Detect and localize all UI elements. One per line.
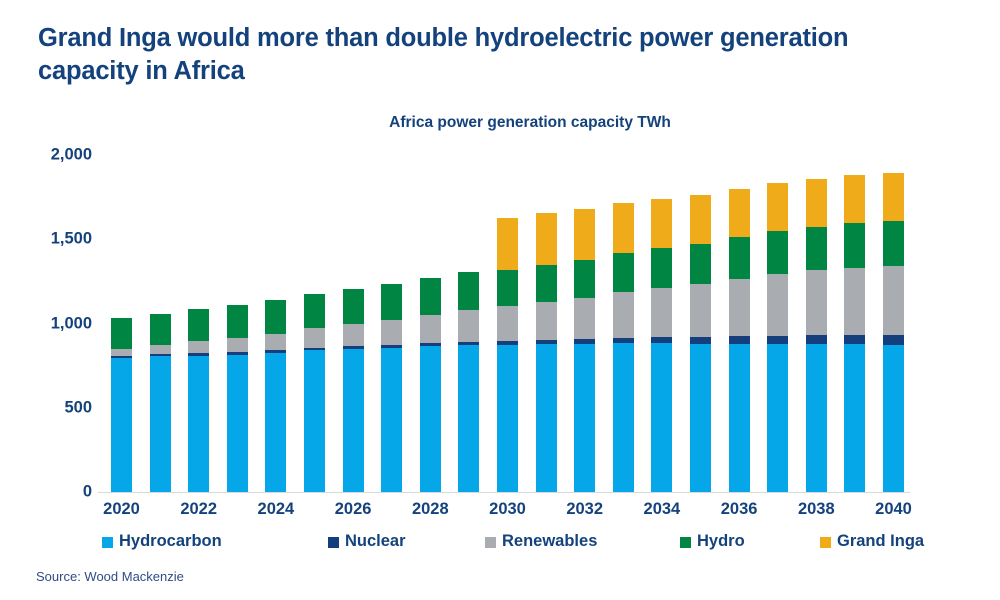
bar-segment-hydrocarbon[interactable] [304,350,325,492]
bar-segment-grand-inga[interactable] [690,195,711,244]
bar-segment-hydrocarbon[interactable] [729,344,750,492]
legend-item-hydro[interactable]: Hydro [680,533,745,550]
bar-segment-grand-inga[interactable] [651,199,672,249]
legend-item-nuclear[interactable]: Nuclear [328,533,406,550]
bar-segment-hydro[interactable] [343,289,364,324]
bar-segment-grand-inga[interactable] [574,209,595,260]
bar-2037[interactable] [767,183,788,492]
bar-segment-renewables[interactable] [613,292,634,337]
legend-item-renewables[interactable]: Renewables [485,533,597,550]
bar-segment-hydrocarbon[interactable] [883,345,904,492]
bar-segment-hydro[interactable] [690,244,711,284]
bar-2032[interactable] [574,209,595,492]
x-axis-tick: 2036 [721,500,758,519]
bar-2034[interactable] [651,199,672,492]
legend-label: Hydrocarbon [119,533,222,550]
bar-2031[interactable] [536,213,557,492]
legend-label: Renewables [502,533,597,550]
bar-segment-hydrocarbon[interactable] [458,345,479,492]
x-axis-tick: 2032 [566,500,603,519]
bar-segment-renewables[interactable] [497,306,518,341]
bar-segment-renewables[interactable] [767,274,788,336]
bar-segment-nuclear[interactable] [690,337,711,344]
bar-2030[interactable] [497,218,518,492]
legend-swatch-icon [328,537,339,548]
bar-segment-renewables[interactable] [188,341,209,353]
bar-segment-hydro[interactable] [265,300,286,334]
bar-segment-hydro[interactable] [420,278,441,315]
x-axis-tick: 2022 [180,500,217,519]
bar-segment-hydro[interactable] [844,223,865,268]
x-axis-tick: 2038 [798,500,835,519]
bar-segment-renewables[interactable] [381,320,402,345]
bar-segment-hydrocarbon[interactable] [844,344,865,492]
bar-segment-nuclear[interactable] [806,335,827,343]
x-axis-tick: 2030 [489,500,526,519]
bar-segment-hydrocarbon[interactable] [497,345,518,492]
legend-swatch-icon [102,537,113,548]
bar-2025[interactable] [304,294,325,492]
bar-segment-renewables[interactable] [883,266,904,335]
bar-segment-hydro[interactable] [381,284,402,320]
bar-segment-renewables[interactable] [651,288,672,337]
y-axis-tick: 500 [20,398,92,417]
x-axis-tick: 2024 [258,500,295,519]
source-note: Source: Wood Mackenzie [36,569,184,584]
bar-segment-hydrocarbon[interactable] [265,353,286,492]
legend-label: Grand Inga [837,533,924,550]
bar-segment-hydrocarbon[interactable] [227,355,248,492]
bar-segment-renewables[interactable] [150,345,171,354]
bar-segment-hydro[interactable] [767,231,788,274]
legend-swatch-icon [680,537,691,548]
bar-segment-nuclear[interactable] [883,335,904,344]
bar-2022[interactable] [188,309,209,492]
bar-segment-grand-inga[interactable] [613,203,634,254]
bar-2033[interactable] [613,203,634,492]
bar-segment-grand-inga[interactable] [883,173,904,221]
bar-segment-grand-inga[interactable] [806,179,827,227]
bar-2038[interactable] [806,179,827,492]
bar-segment-hydrocarbon[interactable] [111,358,132,492]
bar-segment-renewables[interactable] [536,302,557,340]
bar-segment-hydrocarbon[interactable] [574,344,595,492]
bar-segment-grand-inga[interactable] [767,183,788,231]
bar-segment-renewables[interactable] [343,324,364,346]
bar-2035[interactable] [690,195,711,492]
bar-segment-renewables[interactable] [420,315,441,344]
bar-segment-hydro[interactable] [729,237,750,279]
bar-segment-renewables[interactable] [304,328,325,347]
bar-segment-hydro[interactable] [574,260,595,298]
bar-segment-nuclear[interactable] [767,336,788,344]
bar-segment-grand-inga[interactable] [729,189,750,237]
x-axis-tick: 2034 [644,500,681,519]
legend-label: Hydro [697,533,745,550]
legend-swatch-icon [820,537,831,548]
bar-segment-hydro[interactable] [651,248,672,288]
bar-2024[interactable] [265,300,286,492]
bar-segment-grand-inga[interactable] [844,175,865,223]
bar-2029[interactable] [458,272,479,492]
legend-swatch-icon [485,537,496,548]
x-axis: 2020202220242026202820302032203420362038… [98,500,910,526]
bar-segment-renewables[interactable] [227,338,248,352]
bar-2040[interactable] [883,173,904,492]
y-axis-tick: 1,500 [20,230,92,249]
bar-segment-hydro[interactable] [497,270,518,306]
bar-segment-renewables[interactable] [729,279,750,336]
bar-segment-hydro[interactable] [150,314,171,345]
bar-2021[interactable] [150,314,171,492]
bar-segment-nuclear[interactable] [729,336,750,344]
bar-segment-hydro[interactable] [613,253,634,292]
bar-2020[interactable] [111,318,132,492]
bar-segment-renewables[interactable] [111,349,132,357]
page-title: Grand Inga would more than double hydroe… [38,22,948,87]
bar-segment-renewables[interactable] [844,268,865,335]
bar-segment-hydrocarbon[interactable] [806,344,827,492]
bar-segment-renewables[interactable] [265,334,286,351]
x-axis-tick: 2026 [335,500,372,519]
bar-2036[interactable] [729,189,750,492]
bar-segment-hydro[interactable] [883,221,904,266]
bar-segment-hydro[interactable] [458,272,479,311]
bar-segment-hydro[interactable] [111,318,132,348]
bar-2027[interactable] [381,284,402,492]
bar-2023[interactable] [227,305,248,492]
bar-segment-hydrocarbon[interactable] [690,344,711,492]
bar-segment-hydrocarbon[interactable] [613,343,634,492]
bar-segment-hydrocarbon[interactable] [651,343,672,492]
chart-page: Grand Inga would more than double hydroe… [0,0,1000,600]
bar-segment-hydro[interactable] [304,294,325,329]
bar-segment-renewables[interactable] [574,298,595,339]
bar-segment-hydrocarbon[interactable] [343,349,364,492]
chart-subtitle: Africa power generation capacity TWh [0,114,1000,132]
bar-segment-hydro[interactable] [806,227,827,271]
plot-area [98,147,908,492]
bar-segment-hydrocarbon[interactable] [767,344,788,492]
bar-2026[interactable] [343,289,364,492]
y-axis-tick: 1,000 [20,314,92,333]
bar-segment-hydrocarbon[interactable] [188,356,209,492]
bar-segment-hydro[interactable] [188,309,209,341]
bar-segment-hydro[interactable] [536,265,557,302]
chart-legend: HydrocarbonNuclearRenewablesHydroGrand I… [90,533,920,559]
bar-segment-hydro[interactable] [227,305,248,338]
bar-2028[interactable] [420,278,441,492]
bar-segment-hydrocarbon[interactable] [150,356,171,492]
x-axis-tick: 2020 [103,500,140,519]
legend-item-grand-inga[interactable]: Grand Inga [820,533,924,550]
legend-item-hydrocarbon[interactable]: Hydrocarbon [102,533,222,550]
legend-label: Nuclear [345,533,406,550]
bar-segment-hydrocarbon[interactable] [536,344,557,492]
y-axis-tick: 0 [20,483,92,502]
bar-segment-renewables[interactable] [806,270,827,335]
bar-segment-nuclear[interactable] [844,335,865,344]
bar-segment-hydrocarbon[interactable] [381,348,402,492]
axis-baseline [98,492,910,493]
bar-segment-renewables[interactable] [690,284,711,337]
x-axis-tick: 2028 [412,500,449,519]
bar-segment-hydrocarbon[interactable] [420,346,441,492]
y-axis-tick: 2,000 [20,146,92,165]
bar-segment-renewables[interactable] [458,310,479,342]
bar-segment-grand-inga[interactable] [536,213,557,264]
bar-2039[interactable] [844,175,865,492]
bar-segment-grand-inga[interactable] [497,218,518,270]
y-axis: 05001,0001,5002,000 [20,140,92,510]
x-axis-tick: 2040 [875,500,912,519]
